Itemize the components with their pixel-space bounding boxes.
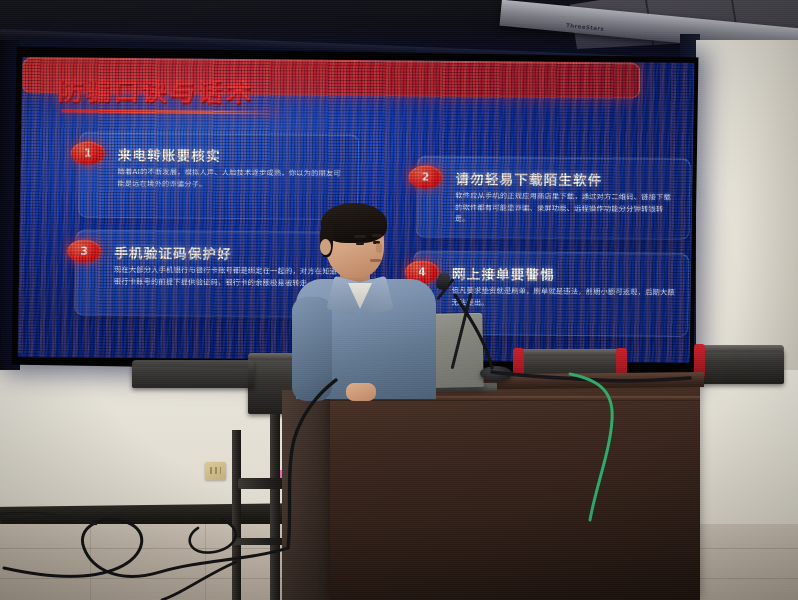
microphone-base xyxy=(480,366,512,381)
floor-grout-line xyxy=(90,524,91,600)
presenter-arm xyxy=(292,297,332,401)
lectern[interactable] xyxy=(330,382,700,600)
wall-outlet xyxy=(205,462,226,480)
chair-crossbar xyxy=(232,538,284,545)
chair[interactable] xyxy=(700,348,784,384)
presenter-ear xyxy=(320,239,331,255)
presenter-eye xyxy=(356,242,364,245)
chair-backrest-cap xyxy=(700,345,784,352)
right-wall-panel xyxy=(696,40,798,370)
presenter-eyebrow xyxy=(372,234,382,237)
floor-grout-line xyxy=(205,524,206,600)
presenter xyxy=(296,205,436,395)
lectern-side-panel xyxy=(282,390,336,600)
chair[interactable] xyxy=(132,360,254,388)
presenter-eyebrow xyxy=(354,235,366,238)
photo-scene: ThreeStars 防骗口诀与话术 1 来电转账要核实 随着AI的不断发展，模… xyxy=(0,0,798,600)
chair-seat-bar xyxy=(238,478,284,489)
slide-card-5 xyxy=(22,57,641,98)
presenter-nose xyxy=(376,243,382,253)
presenter-mouth xyxy=(370,259,381,262)
presenter-hand xyxy=(346,383,376,401)
chair-leg xyxy=(270,414,280,600)
chair-backrest-cap xyxy=(520,349,620,356)
chair-leg xyxy=(232,430,241,600)
